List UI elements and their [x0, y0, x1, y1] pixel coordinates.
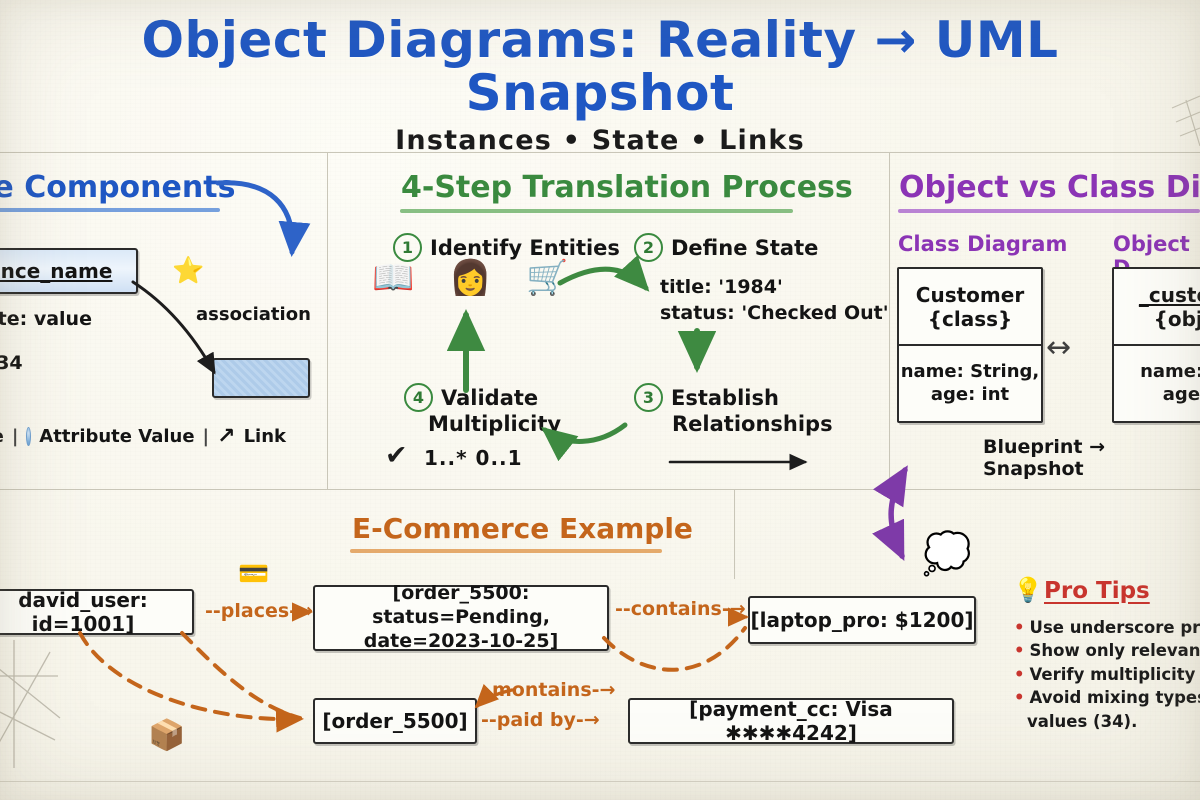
node-label-line2: date=2023-10-25]	[364, 630, 559, 654]
link-label-paid-by: --paid by-→	[481, 709, 600, 731]
object-node-order-detailed: [order_5500: status=Pending, date=2023-1…	[313, 585, 609, 651]
object-name: _custom	[1139, 283, 1200, 307]
step-3: 3 Establish	[634, 383, 779, 412]
credit-card-icon: 💳	[238, 559, 269, 589]
step-2-number: 2	[634, 233, 663, 262]
heading-ecommerce-example: E-Commerce Example	[352, 512, 693, 545]
pro-tip-text: Use underscore prefix	[1030, 618, 1200, 637]
class-box-attributes: name: String, age: int	[899, 346, 1041, 421]
object-diagram-box: _custom {obje name: 'D age:	[1112, 267, 1200, 423]
class-diagram-box: Customer {class} name: String, age: int	[897, 267, 1043, 423]
pro-tip-item: •Avoid mixing types (int	[1014, 686, 1200, 709]
thought-cloud-icon: 💭	[922, 530, 972, 577]
pro-tip-text: values (34).	[1027, 712, 1137, 731]
legend-link-label: Link	[244, 426, 286, 447]
page-title: Object Diagrams: Reality → UML Snapshot	[0, 14, 1200, 119]
pro-tip-item: •Use underscore prefix	[1014, 616, 1200, 639]
subheading-class-diagram: Class Diagram	[898, 232, 1067, 256]
package-icon: 📦	[148, 718, 185, 753]
underline-ecommerce	[350, 549, 662, 553]
instance-attribute-2: : 34	[0, 352, 23, 374]
class-name: Customer	[916, 283, 1024, 307]
object-box-attributes: name: 'D age:	[1114, 346, 1200, 421]
class-stereotype: {class}	[928, 307, 1013, 331]
link-label-places: --places-→	[205, 600, 313, 622]
sketch-decoration-bottom-left	[0, 640, 60, 768]
state-line-title: title: '1984'	[660, 275, 889, 301]
node-label-line1: [order_5500: status=Pending,	[315, 582, 607, 630]
association-label: association	[196, 304, 311, 325]
step-4-label-line2: Multiplicity	[428, 412, 561, 437]
arrow-purple-double	[891, 470, 905, 556]
node-label: [payment_cc: Visa ✱✱✱✱4242]	[630, 697, 952, 745]
heading-translation-process: 4-Step Translation Process	[401, 170, 853, 205]
star-icon: ⭐	[172, 258, 204, 284]
bullet-icon: •	[1014, 688, 1025, 707]
step-3-label: Establish	[671, 386, 779, 410]
bullet-icon: •	[1014, 665, 1025, 684]
pro-tip-text: Show only relevant att	[1030, 641, 1200, 660]
divider-middle	[0, 489, 1200, 490]
pro-tip-continuation: values (34).	[1014, 710, 1200, 733]
bullet-icon: •	[1014, 618, 1025, 637]
instance-name-label: tance_name	[0, 259, 112, 283]
legend-separator-2: |	[203, 426, 210, 447]
step-4-label: Validate	[441, 386, 538, 410]
entity-icons: 📖 👩 🛒	[372, 258, 581, 298]
object-attr-2: age:	[1163, 384, 1200, 407]
object-node-david-user: david_user: id=1001]	[0, 589, 194, 635]
instance-box: tance_name	[0, 248, 138, 294]
divider-vertical-2	[889, 152, 890, 489]
divider-bottom	[0, 781, 1200, 782]
dashed-link-david-to-order	[80, 633, 300, 719]
link-label-montains: montains-→	[492, 679, 615, 701]
object-stereotype: {obje	[1154, 307, 1200, 331]
divider-vertical-3	[734, 489, 735, 579]
bullet-icon: •	[1014, 641, 1025, 660]
heading-object-vs-class: Object vs Class Diagr	[899, 170, 1200, 205]
underline-object-vs-class	[898, 209, 1200, 213]
legend-instance-label: ance	[0, 426, 4, 447]
pro-tip-item: •Verify multiplicity cons	[1014, 663, 1200, 686]
link-label-contains: --contains-→	[615, 598, 746, 620]
blueprint-snapshot-caption: Blueprint → Snapshot	[983, 436, 1200, 480]
heading-pro-tips: Pro Tips	[1044, 578, 1150, 604]
heading-core-components: ore Components	[0, 170, 235, 205]
object-box-header: _custom {obje	[1114, 269, 1200, 346]
object-node-payment-cc: [payment_cc: Visa ✱✱✱✱4242]	[628, 698, 954, 744]
node-label: [order_5500]	[322, 709, 467, 733]
class-attr-1: name: String,	[901, 361, 1040, 384]
pro-tips-list: •Use underscore prefix •Show only releva…	[1014, 616, 1200, 733]
underline-core	[0, 208, 220, 212]
step-4-number: 4	[404, 383, 433, 412]
object-node-laptop-pro: [laptop_pro: $1200]	[748, 596, 976, 644]
class-box-header: Customer {class}	[899, 269, 1041, 346]
step-2-label: Define State	[671, 236, 818, 260]
pro-tip-text: Avoid mixing types (int	[1030, 688, 1200, 707]
underline-steps	[400, 209, 793, 213]
legend-attribute-value-label: Attribute Value	[39, 426, 194, 447]
object-attr-1: name: 'D	[1140, 361, 1200, 384]
lightbulb-icon: 💡	[1013, 576, 1043, 604]
node-label: [laptop_pro: $1200]	[750, 608, 973, 632]
dashed-link-david-branch	[182, 633, 300, 718]
state-example: title: '1984' status: 'Checked Out'	[660, 275, 889, 326]
step-3-number: 3	[634, 383, 663, 412]
multiplicity-values: 1..* 0..1	[424, 446, 523, 470]
associated-object-box	[212, 358, 310, 398]
step-3-label-line2: Relationships	[672, 412, 833, 437]
step-2: 2 Define State	[634, 233, 818, 262]
object-node-order-5500: [order_5500]	[313, 698, 477, 744]
link-arrow-icon: ↗	[217, 424, 235, 449]
divider-top	[0, 152, 1200, 153]
class-attr-2: age: int	[931, 384, 1009, 407]
node-label: david_user: id=1001]	[0, 588, 192, 636]
pro-tip-item: •Show only relevant att	[1014, 639, 1200, 662]
pro-tip-text: Verify multiplicity cons	[1030, 665, 1200, 684]
step-4: 4 Validate	[404, 383, 538, 412]
divider-vertical-1	[327, 152, 328, 489]
instance-attribute-1: ibute: value	[0, 308, 92, 330]
arrow-association	[133, 282, 214, 372]
attribute-value-dot-icon	[26, 427, 31, 446]
legend: ance | Attribute Value | ↗ Link	[0, 424, 286, 449]
header: Object Diagrams: Reality → UML Snapshot …	[0, 14, 1200, 156]
dashed-link-order-to-laptop	[604, 628, 745, 670]
double-arrow-icon: ↔	[1046, 330, 1071, 365]
step-1-label: Identify Entities	[430, 236, 620, 260]
legend-separator-1: |	[12, 426, 19, 447]
checkmark-icon: ✔	[385, 440, 408, 471]
state-line-status: status: 'Checked Out'	[660, 301, 889, 327]
